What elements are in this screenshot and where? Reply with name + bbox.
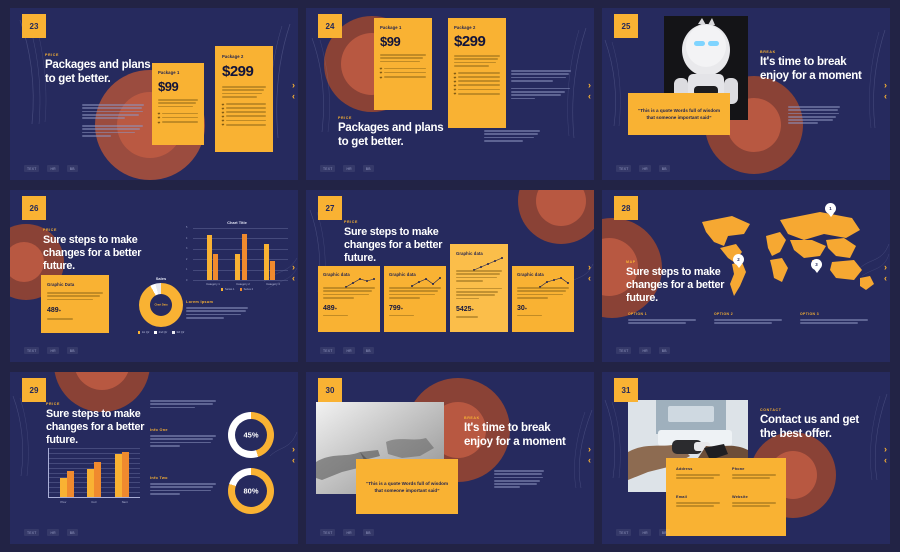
card-paragraph [380, 54, 426, 62]
x-tick-label: Prev [61, 500, 67, 504]
slide-number: 27 [318, 196, 342, 220]
next-arrow-icon[interactable]: › [884, 444, 887, 455]
footer-chip: TEXT [616, 347, 631, 354]
footer-chip: TEXT [320, 165, 335, 172]
card-title: Graphic Data [47, 282, 103, 287]
option-block-3: OPTION 3 [800, 312, 868, 324]
eyebrow: Price [344, 220, 452, 224]
section-title: Lorem Ipsum [186, 300, 248, 304]
slide-headline: Sure steps to make changes for a better … [344, 226, 452, 265]
slide-29[interactable]: 29 Price Sure steps to make changes for … [10, 372, 298, 544]
slide-23[interactable]: 23 Price Packages and plans to get bette… [10, 8, 298, 180]
slide-nav[interactable]: › ‹ [292, 444, 295, 466]
gauge-label: 45% [243, 431, 258, 440]
footer-chip: HR [47, 529, 58, 536]
next-arrow-icon[interactable]: › [588, 80, 591, 91]
donut-center-label: Chart Data [154, 304, 167, 307]
slide-gallery: 23 Price Packages and plans to get bette… [0, 0, 900, 552]
graphic-data-card-3[interactable]: Graphic data 5425+ [450, 244, 508, 332]
option-block-1: OPTION 1 [628, 312, 696, 324]
card-paragraph [456, 270, 502, 299]
card-title: Package 2 [222, 54, 266, 59]
footer-chip: HR [639, 347, 650, 354]
gauge-80: 80% [228, 468, 274, 514]
field-label: Phone [732, 467, 776, 471]
slide-number: 24 [318, 14, 342, 38]
bar-chart-26: Chart Title 543210 Category 1 Category 2… [186, 220, 288, 291]
slide-number: 29 [22, 378, 46, 402]
card-caption [47, 318, 73, 320]
footer-chip: BB [67, 347, 78, 354]
info-title: Info One [150, 428, 216, 432]
x-tick-label: Category 2 [236, 282, 250, 286]
footer-chip: HR [343, 165, 354, 172]
slide-footer: TEXT HR BB [320, 347, 374, 354]
footer-chip: TEXT [24, 165, 39, 172]
slide-footer: TEXT HR BB [24, 347, 78, 354]
card-title: Package 1 [380, 25, 426, 30]
card-stat: 5425+ [456, 306, 502, 313]
prev-arrow-icon[interactable]: ‹ [588, 455, 591, 466]
option-block-2: OPTION 2 [714, 312, 782, 324]
slide-footer: TEXT HR BB [24, 529, 78, 536]
pricing-card-package-2[interactable]: Package 2 $299 [448, 18, 506, 128]
slide-number: 28 [614, 196, 638, 220]
slide-headline: Sure steps to make changes for a better … [43, 234, 155, 273]
eyebrow: Map [626, 260, 734, 264]
slide-nav[interactable]: › ‹ [588, 262, 591, 284]
slide-nav[interactable]: › ‹ [884, 444, 887, 466]
slide-headline: Contact us and get the best offer. [760, 414, 868, 441]
graphic-data-card-1[interactable]: Graphic data 489+ [318, 266, 380, 332]
chart-title: Chart Title [186, 220, 288, 225]
pricing-card-package-1[interactable]: Package 1 $99 [152, 63, 204, 145]
footer-chip: BB [659, 165, 670, 172]
next-arrow-icon[interactable]: › [884, 80, 887, 91]
card-bullet-list [222, 103, 266, 126]
card-caption [517, 315, 542, 317]
prev-arrow-icon[interactable]: ‹ [292, 455, 295, 466]
card-price: $299 [222, 63, 266, 80]
card-price: $99 [380, 34, 426, 49]
prev-arrow-icon[interactable]: ‹ [588, 273, 591, 284]
card-paragraph [47, 292, 103, 300]
body-paragraph [82, 104, 144, 137]
slide-headline: It's time to break enjoy for a moment [760, 56, 868, 83]
option-title: OPTION 1 [628, 312, 696, 316]
bar-chart-29: Prev Curr Next [48, 448, 140, 506]
next-arrow-icon[interactable]: › [884, 262, 887, 273]
footer-chip: TEXT [616, 529, 631, 536]
slide-number: 25 [614, 14, 638, 38]
slide-number: 26 [22, 196, 46, 220]
prev-arrow-icon[interactable]: ‹ [884, 455, 887, 466]
graphic-data-card-4[interactable]: Graphic data 30+ [512, 266, 574, 332]
slide-number: 23 [22, 14, 46, 38]
slide-number: 30 [318, 378, 342, 402]
field-label: Email [676, 495, 720, 499]
card-stat: 489+ [47, 307, 103, 314]
card-title: Package 1 [158, 70, 198, 75]
footer-chip: HR [343, 347, 354, 354]
field-label: Website [732, 495, 776, 499]
eyebrow: Price [46, 402, 158, 406]
footer-chip: BB [363, 165, 374, 172]
footer-chip: TEXT [24, 347, 39, 354]
quote-card: “This is a quote Words full of wisdom th… [356, 459, 458, 514]
map-pin-2[interactable]: 2 [733, 254, 744, 268]
slide-headline: Sure steps to make changes for a better … [626, 266, 734, 305]
body-paragraph [186, 307, 248, 319]
option-title: OPTION 3 [800, 312, 868, 316]
option-title: OPTION 2 [714, 312, 782, 316]
slide-nav[interactable]: › ‹ [588, 80, 591, 102]
eyebrow: Break [760, 50, 868, 54]
body-paragraph-lower [484, 130, 540, 142]
slide-nav[interactable]: › ‹ [884, 80, 887, 102]
slide-24[interactable]: 24 Package 1 $99 Package 2 $299 [306, 8, 594, 180]
pricing-card-package-1[interactable]: Package 1 $99 [374, 18, 432, 110]
slide-nav[interactable]: › ‹ [292, 262, 295, 284]
slide-nav[interactable]: › ‹ [292, 80, 295, 102]
card-caption [456, 316, 478, 318]
next-arrow-icon[interactable]: › [588, 262, 591, 273]
map-pin-1[interactable]: 1 [825, 203, 836, 217]
footer-chip: BB [67, 529, 78, 536]
prev-arrow-icon[interactable]: ‹ [292, 273, 295, 284]
slide-25[interactable]: 25 Break It's time [602, 8, 890, 180]
chart-legend: Series 1 Series 2 [186, 288, 288, 291]
graphic-data-card-2[interactable]: Graphic data 799+ [384, 266, 446, 332]
slide-nav[interactable]: › ‹ [884, 262, 887, 284]
next-arrow-icon[interactable]: › [292, 444, 295, 455]
field-label: Address [676, 467, 720, 471]
body-paragraph [788, 106, 840, 124]
footer-chip: HR [639, 529, 650, 536]
footer-chip: BB [659, 529, 670, 536]
slide-footer: TEXT HR BB [320, 529, 374, 536]
card-price: $99 [158, 79, 198, 94]
card-stat: 30+ [517, 305, 569, 312]
slide-26[interactable]: 26 Price Sure steps to make changes for … [10, 190, 298, 362]
contact-field-website: Website [732, 495, 776, 507]
next-arrow-icon[interactable]: › [292, 262, 295, 273]
contact-card[interactable]: Address Phone Email Website [666, 458, 786, 536]
footer-chip: BB [67, 165, 78, 172]
intro-paragraph [150, 400, 216, 408]
gauge-label: 80% [243, 487, 258, 496]
eyebrow: Price [338, 116, 450, 120]
footer-chip: HR [343, 529, 354, 536]
eyebrow: Contact [760, 408, 868, 412]
map-pin-3[interactable]: 3 [811, 259, 822, 273]
footer-chip: BB [659, 347, 670, 354]
slide-footer: TEXT HR BB [616, 347, 670, 354]
card-bullet-list [454, 72, 500, 95]
info-block-two: Info Two [150, 476, 216, 495]
footer-chip: BB [363, 347, 374, 354]
card-caption [389, 315, 414, 317]
contact-field-address: Address [676, 467, 720, 479]
donut-legend: 1st Qtr 2nd Qtr 3rd Qtr [125, 331, 197, 334]
slide-30[interactable]: 30 Break It's time to break enjoy for a … [306, 372, 594, 544]
card-paragraph [158, 99, 198, 107]
prev-arrow-icon[interactable]: ‹ [884, 273, 887, 284]
x-tick-label: Category 1 [206, 282, 220, 286]
contact-field-email: Email [676, 495, 720, 507]
slide-headline: Packages and plans to get better. [338, 122, 450, 149]
card-paragraph [454, 55, 500, 67]
slide-number: 31 [614, 378, 638, 402]
footer-chip: HR [47, 165, 58, 172]
card-stat: 489+ [323, 305, 375, 312]
quote-text: “This is a quote Words full of wisdom th… [637, 107, 721, 121]
body-paragraph [494, 470, 544, 488]
card-caption [323, 315, 348, 317]
quote-text: “This is a quote Words full of wisdom th… [365, 480, 449, 494]
info-title: Info Two [150, 476, 216, 480]
contact-field-phone: Phone [732, 467, 776, 479]
x-tick-label: Curr [91, 500, 96, 504]
card-stat: 799+ [389, 305, 441, 312]
slide-nav[interactable]: › ‹ [588, 444, 591, 466]
card-paragraph [222, 86, 266, 98]
slide-footer: TEXT HR BB [320, 165, 374, 172]
eyebrow: Price [45, 53, 155, 57]
footer-chip: TEXT [320, 347, 335, 354]
footer-chip: HR [47, 347, 58, 354]
card-title: Package 2 [454, 25, 500, 30]
info-block-one: Info One [150, 428, 216, 447]
card-bullet-list [380, 67, 426, 78]
body-paragraph-right [511, 70, 571, 99]
eyebrow: Price [43, 228, 155, 232]
footer-chip: TEXT [320, 529, 335, 536]
slide-28[interactable]: 28 1 [602, 190, 890, 362]
next-arrow-icon[interactable]: › [292, 80, 295, 91]
slide-headline: Sure steps to make changes for a better … [46, 408, 158, 447]
footer-chip: TEXT [24, 529, 39, 536]
prev-arrow-icon[interactable]: ‹ [884, 91, 887, 102]
eyebrow: Break [464, 416, 570, 420]
slide-headline: Packages and plans to get better. [45, 59, 155, 86]
card-price: $299 [454, 33, 500, 50]
gauge-45: 45% [228, 412, 274, 458]
x-tick-label: Next [122, 500, 128, 504]
footer-chip: TEXT [616, 165, 631, 172]
slide-27[interactable]: 27 Price Sure steps to make changes for … [306, 190, 594, 362]
slide-footer: TEXT HR BB [616, 165, 670, 172]
footer-chip: HR [639, 165, 650, 172]
next-arrow-icon[interactable]: › [588, 444, 591, 455]
slide-31[interactable]: 31 Contact Contact us and get the best o [602, 372, 890, 544]
pricing-card-package-2[interactable]: Package 2 $299 [215, 46, 273, 152]
slide-footer: TEXT HR BB [24, 165, 78, 172]
card-bullet-list [158, 112, 198, 123]
slide-footer: TEXT HR BB [616, 529, 670, 536]
prev-arrow-icon[interactable]: ‹ [588, 91, 591, 102]
quote-card: “This is a quote Words full of wisdom th… [628, 93, 730, 135]
graphic-data-card[interactable]: Graphic Data 489+ [41, 275, 109, 333]
footer-chip: BB [363, 529, 374, 536]
prev-arrow-icon[interactable]: ‹ [292, 91, 295, 102]
slide-headline: It's time to break enjoy for a moment [464, 422, 570, 449]
x-tick-label: Category 3 [266, 282, 280, 286]
